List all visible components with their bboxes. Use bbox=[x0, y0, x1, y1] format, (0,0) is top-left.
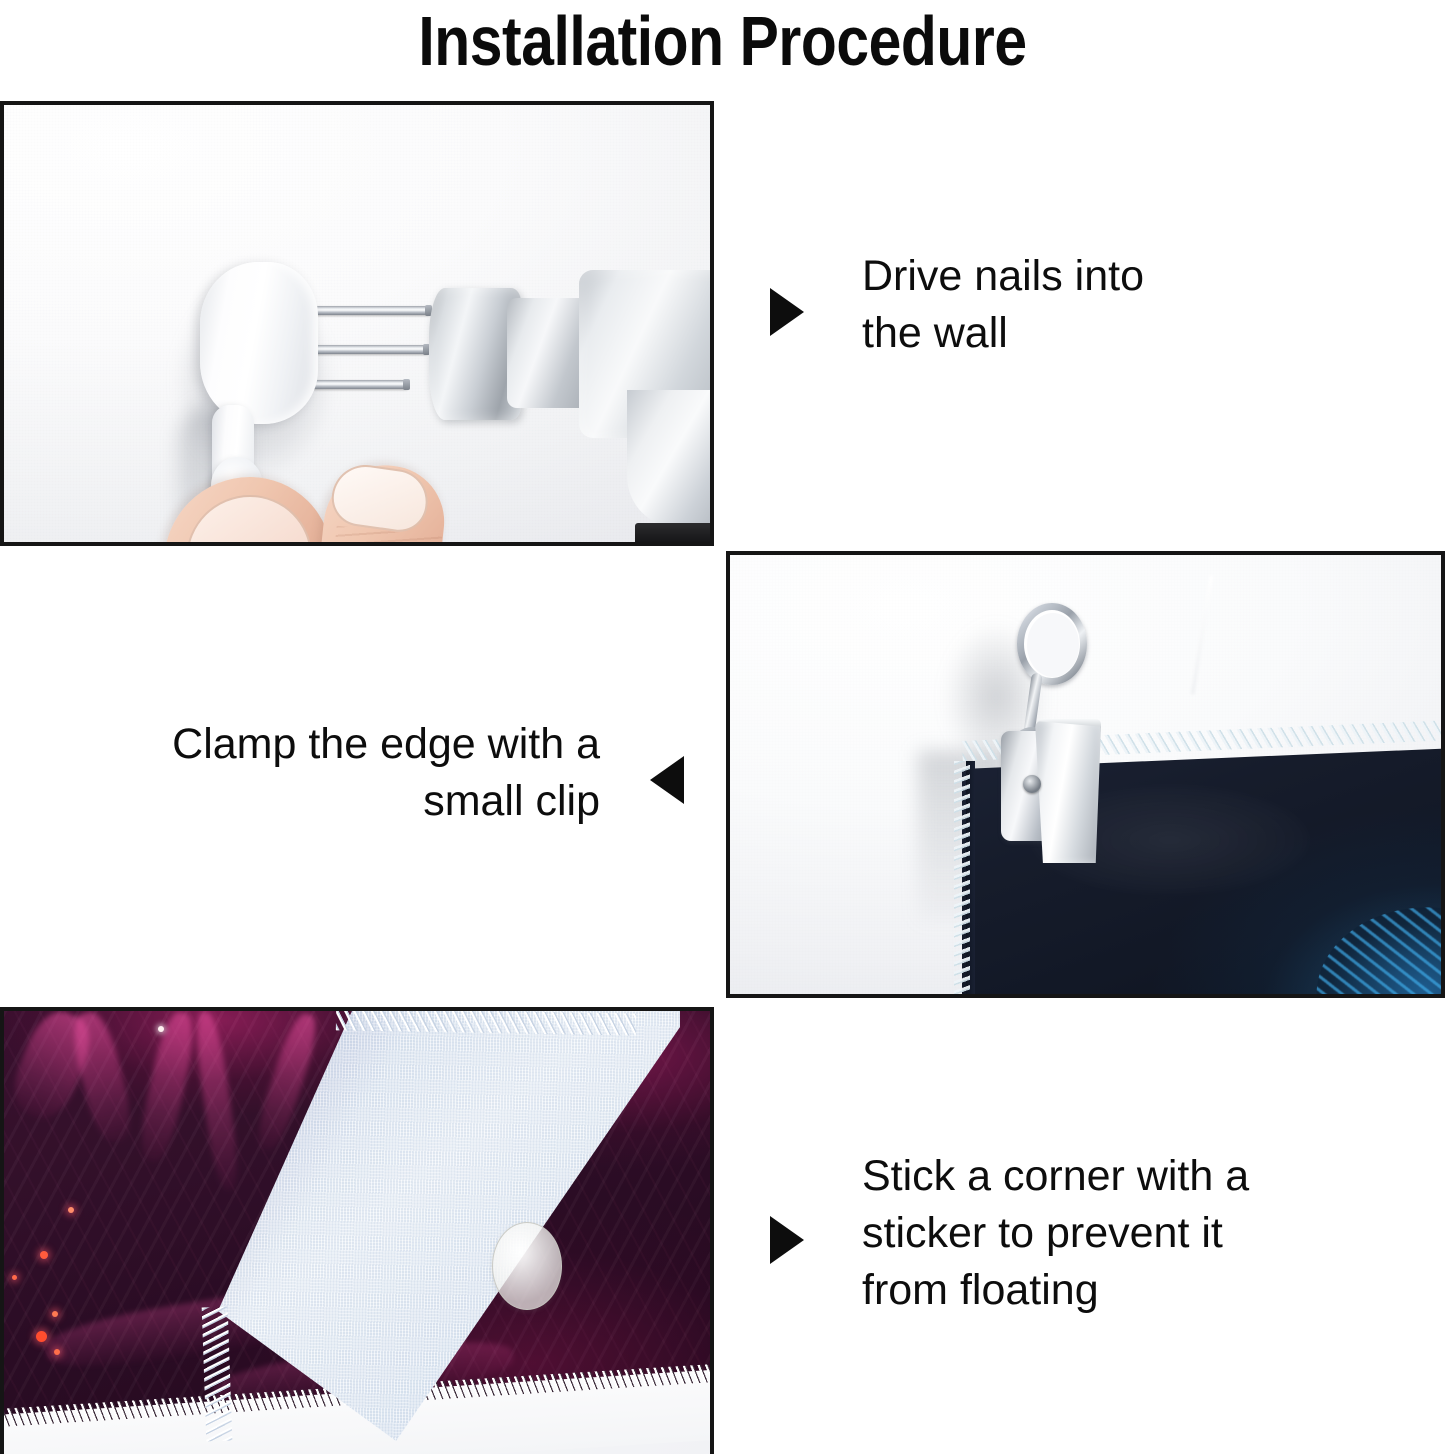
hammer-head bbox=[429, 270, 710, 542]
page-title: Installation Procedure bbox=[116, 2, 1330, 80]
three-metal-nails bbox=[304, 380, 408, 389]
metal-clip bbox=[979, 603, 1109, 853]
glow-spark bbox=[52, 1311, 58, 1317]
triangle-right-icon bbox=[770, 288, 804, 336]
triangle-left-icon bbox=[650, 756, 684, 804]
step-3-caption-line-3: from floating bbox=[862, 1262, 1332, 1319]
photo-drive-nails bbox=[0, 101, 714, 546]
step-1-caption-line-1: Drive nails into bbox=[862, 248, 1292, 305]
three-metal-nails bbox=[304, 306, 430, 315]
installation-procedure-infographic: Installation Procedure bbox=[0, 0, 1445, 1454]
hammer-black-band bbox=[635, 523, 710, 542]
backing-hem-stitch bbox=[202, 1307, 233, 1442]
glow-spark bbox=[158, 1026, 164, 1032]
glow-spark bbox=[12, 1275, 17, 1280]
step-3-caption-line-1: Stick a corner with a bbox=[862, 1148, 1332, 1205]
glow-spark bbox=[54, 1349, 60, 1355]
nail-head bbox=[403, 379, 410, 390]
panel-1-scene bbox=[4, 105, 710, 542]
step-3-caption: Stick a corner with a sticker to prevent… bbox=[862, 1148, 1332, 1318]
photo-clamp-edge bbox=[726, 551, 1445, 998]
white-plastic-hook bbox=[200, 262, 318, 424]
step-3-caption-line-2: sticker to prevent it bbox=[862, 1205, 1332, 1262]
hammer-claw bbox=[627, 390, 710, 528]
glow-spark bbox=[68, 1207, 74, 1213]
step-1-caption-line-2: the wall bbox=[862, 305, 1292, 362]
clip-ring-hole bbox=[1027, 613, 1079, 677]
clip-rivet bbox=[1023, 775, 1041, 793]
triangle-right-icon bbox=[770, 1216, 804, 1264]
panel-2-scene bbox=[730, 555, 1441, 994]
photo-stick-corner bbox=[0, 1007, 714, 1454]
hand-holding-hook bbox=[134, 457, 464, 542]
glow-spark bbox=[40, 1251, 48, 1259]
step-2-caption-line-2: small clip bbox=[60, 773, 600, 830]
step-2-caption: Clamp the edge with a small clip bbox=[60, 716, 600, 830]
step-1-caption: Drive nails into the wall bbox=[862, 248, 1292, 362]
glow-spark bbox=[36, 1331, 47, 1342]
three-metal-nails bbox=[304, 345, 428, 354]
step-2-caption-line-1: Clamp the edge with a bbox=[60, 716, 600, 773]
white-zigzag-stitching bbox=[954, 761, 970, 994]
panel-3-scene bbox=[4, 1011, 710, 1454]
clip-jaw-front bbox=[1035, 721, 1101, 863]
round-clear-sticker bbox=[492, 1222, 562, 1310]
